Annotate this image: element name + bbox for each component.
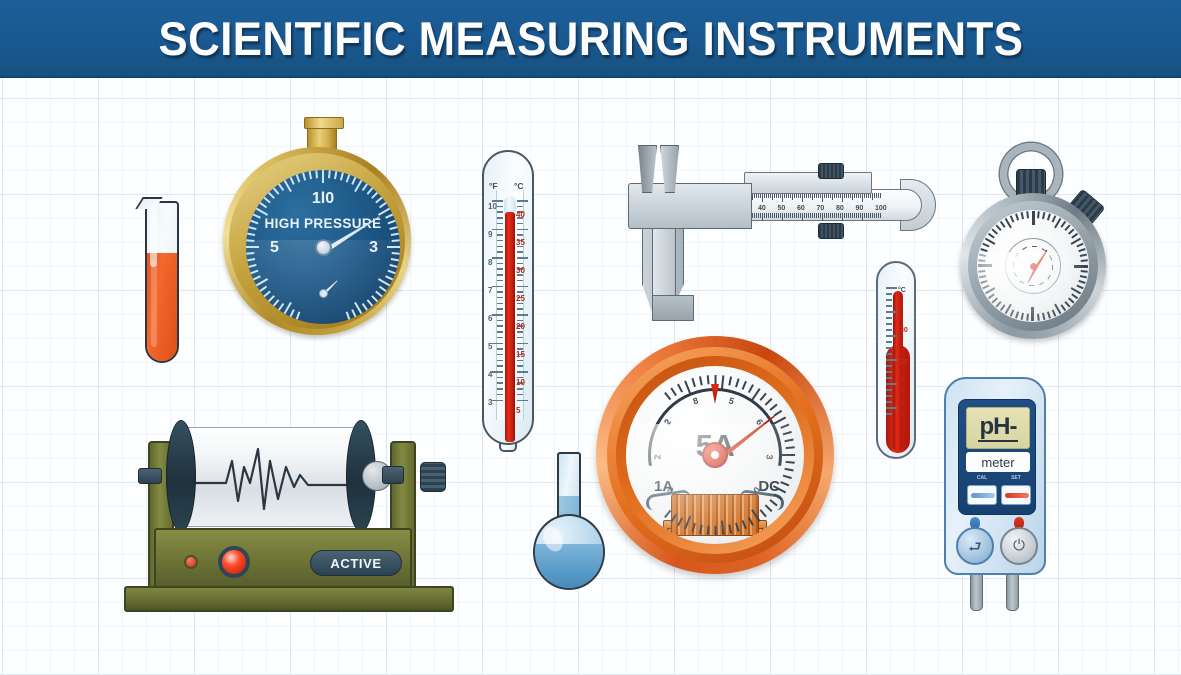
thermometer-large-number-left: 9: [488, 230, 492, 239]
pressure-gauge-inner-bezel: HIGH PRESSURE 1l0 5 3: [229, 153, 405, 329]
power-icon: ⏻: [1002, 537, 1036, 554]
pressure-gauge-hub: [315, 239, 332, 256]
stopwatch-hand-secondary: [1027, 264, 1039, 283]
ammeter-main-reading: 5A: [626, 428, 804, 464]
caliper-jaw-tip: [652, 295, 694, 321]
thermometer-large-number-right: 10: [516, 378, 525, 387]
caliper-lock-screw-bottom[interactable]: [818, 223, 844, 239]
pressure-gauge-number-right: 3: [369, 239, 378, 257]
thermometer-large-number-right: 5: [516, 406, 520, 415]
thermometer-small-number-1: 30: [900, 327, 908, 334]
seismograph: ACTIVE: [124, 408, 454, 613]
thermometer-large-mercury: [505, 212, 515, 442]
ph-meter-probe-right: [1006, 571, 1019, 611]
stopwatch-dial-face: [977, 210, 1089, 322]
thermometer-small: °C 30 20: [876, 261, 916, 459]
flask-bulb: [533, 514, 605, 590]
ph-meter-mode-glyph: ⮐: [958, 537, 992, 562]
stopwatch: [948, 143, 1120, 339]
ammeter-lead-right: [740, 489, 784, 511]
pressure-gauge-number-left: 5: [270, 239, 279, 257]
thermometer-large-number-left: 5: [488, 342, 492, 351]
caliper-scale-number: 60: [797, 205, 805, 212]
pressure-gauge-subdial-hub: [319, 289, 328, 298]
caliper-scale-number: 70: [817, 205, 825, 212]
thermometer-large-number-right: 25: [516, 294, 525, 303]
ammeter: 02285630 5A 1A DC: [596, 336, 834, 574]
ph-meter-body: pH- meter CAL SET ⮐ ⏻: [944, 377, 1046, 575]
ph-meter-button-label-right: SET: [1001, 475, 1031, 481]
pressure-gauge-number-top: 1l0: [312, 190, 334, 208]
status-badge-label: ACTIVE: [330, 556, 381, 571]
thermometer-large-unit-fahrenheit: °F: [489, 181, 498, 191]
caliper-top-slide: [744, 172, 872, 194]
stopwatch-inner-case: [968, 201, 1098, 331]
ph-meter: pH- meter CAL SET ⮐ ⏻: [944, 377, 1046, 613]
seismograph-axle-right: [382, 466, 404, 484]
ammeter-terminal-post-right: [754, 528, 763, 544]
test-tube-liquid: [147, 253, 177, 361]
seismograph-power-button[interactable]: [218, 546, 250, 578]
ph-meter-button-label-left: CAL: [967, 475, 997, 481]
ammeter-scale-arc: [648, 388, 782, 522]
ammeter-terminal-post-left: [667, 528, 676, 544]
test-tube-highlight: [150, 207, 157, 267]
thermometer-small-glass: °C 30 20: [876, 261, 916, 459]
seismograph-indicator-led-small: [184, 555, 198, 569]
seismograph-waveform: [178, 427, 358, 527]
stopwatch-subdial: [1005, 238, 1061, 294]
poster-canvas: SCIENTIFIC MEASURING INSTRUMENTS HIGH PR…: [0, 0, 1181, 675]
pressure-gauge-subdial-needle: [322, 280, 338, 296]
ph-meter-subtitle-plate: meter: [966, 452, 1030, 472]
ammeter-scale-number: 0: [665, 485, 676, 495]
ph-meter-subtitle: meter: [981, 455, 1014, 470]
thermometer-large-number-right: 15: [516, 350, 525, 359]
ph-meter-button-left[interactable]: [967, 485, 997, 505]
ammeter-mid-bezel: 02285630 5A 1A DC: [607, 347, 823, 563]
pressure-gauge-dial-face: HIGH PRESSURE 1l0 5 3: [246, 170, 400, 324]
ph-meter-button-right[interactable]: [1001, 485, 1031, 505]
ph-meter-front-panel: pH- meter CAL SET: [958, 399, 1036, 515]
caliper-scale-number: 100: [875, 205, 887, 212]
caliper-scale-number: 40: [758, 205, 766, 212]
caliper-scale-number: 90: [856, 205, 864, 212]
thermometer-large: °F °C 109876543 403530252015105: [482, 150, 534, 445]
thermometer-small-ticks: [886, 287, 900, 417]
thermometer-large-number-left: 4: [488, 370, 492, 379]
stopwatch-case: [960, 193, 1106, 339]
thermometer-large-number-left: 3: [488, 398, 492, 407]
seismograph-adjust-knob[interactable]: [420, 462, 446, 492]
seismograph-drum-flange-left: [166, 420, 196, 532]
ammeter-dial-face: 02285630 5A 1A DC: [626, 366, 804, 544]
ammeter-scale-number: 3: [764, 454, 774, 460]
pressure-gauge-subdial: [299, 273, 347, 303]
ph-meter-display-value: pH-: [978, 415, 1019, 442]
thermometer-large-number-right: 40: [516, 210, 525, 219]
thermometer-small-number-2: 20: [900, 359, 908, 366]
ammeter-range-label: 1A: [654, 478, 673, 495]
thermometer-large-number-left: 6: [488, 314, 492, 323]
ammeter-hub: [702, 442, 728, 468]
seismograph-base: [124, 586, 454, 612]
ph-meter-mode-button[interactable]: ⮐: [956, 527, 994, 565]
pressure-gauge-bezel: HIGH PRESSURE 1l0 5 3: [223, 147, 411, 335]
thermometer-large-number-right: 35: [516, 238, 525, 247]
ammeter-lead-left: [646, 489, 690, 511]
seismograph-axle-left: [138, 468, 162, 484]
ammeter-coil: [671, 494, 759, 536]
thermometer-large-number-right: 20: [516, 322, 525, 331]
thermometer-large-number-left: 10: [488, 202, 497, 211]
status-badge: ACTIVE: [310, 550, 402, 576]
thermometer-large-glass: °F °C 109876543 403530252015105: [482, 150, 534, 445]
test-tube: [139, 183, 185, 365]
caliper-scale-number: 50: [778, 205, 786, 212]
thermometer-large-unit-celsius: °C: [514, 181, 524, 191]
thermometer-large-number-right: 30: [516, 266, 525, 275]
ammeter-terminal-pad-left: [663, 520, 680, 532]
ammeter-scale-number: 2: [652, 454, 662, 460]
ammeter-current-type-label: DC: [758, 478, 780, 495]
page-title: SCIENTIFIC MEASURING INSTRUMENTS: [158, 11, 1023, 66]
ph-meter-display: pH-: [966, 407, 1030, 449]
ammeter-scale-number: 0: [751, 485, 762, 495]
flask-liquid: [535, 544, 603, 588]
thermometer-large-number-left: 8: [488, 258, 492, 267]
pressure-gauge: HIGH PRESSURE 1l0 5 3: [215, 123, 419, 346]
ph-meter-probe-left: [970, 571, 983, 611]
ammeter-inner-bezel: 02285630 5A 1A DC: [616, 356, 814, 554]
stopwatch-hand-primary: [1033, 249, 1049, 271]
stopwatch-hub: [1030, 263, 1037, 270]
caliper-upper-jaws: [638, 145, 694, 197]
ph-meter-power-button[interactable]: ⏻: [1000, 527, 1038, 565]
caliper-lock-screw-top[interactable]: [818, 163, 844, 179]
ammeter-outer-bezel: 02285630 5A 1A DC: [596, 336, 834, 574]
poster-header-bar: SCIENTIFIC MEASURING INSTRUMENTS: [0, 0, 1181, 78]
ammeter-terminal-pad-right: [750, 520, 767, 532]
thermometer-large-number-left: 7: [488, 286, 492, 295]
caliper-scale-number: 80: [836, 205, 844, 212]
